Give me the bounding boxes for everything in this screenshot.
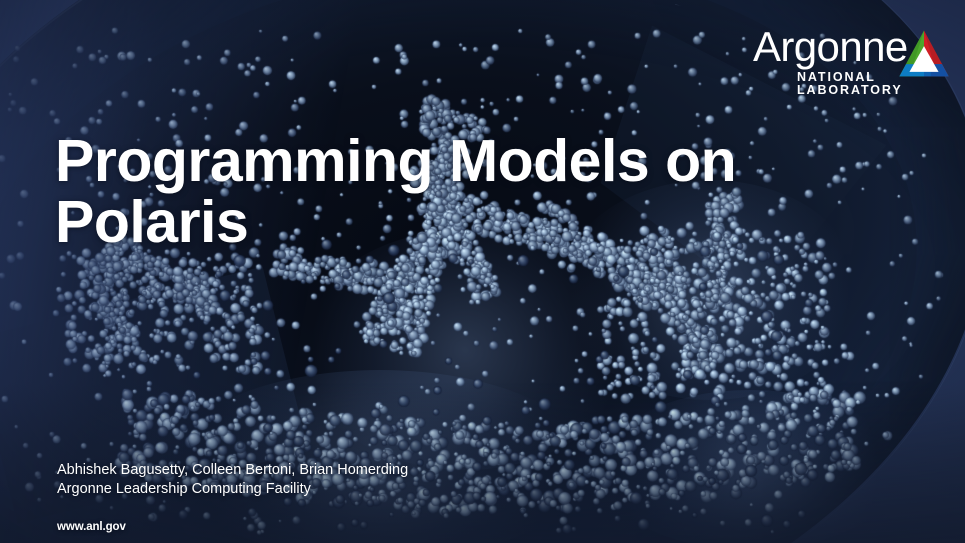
footer-website-url: www.anl.gov	[57, 521, 126, 533]
slide-byline: Abhishek Bagusetty, Colleen Bertoni, Bri…	[57, 461, 408, 500]
argonne-wordmark: Argonne	[753, 26, 908, 68]
argonne-logo: Argonne NATIONAL LABORATORY	[745, 26, 957, 98]
presentation-slide: Programming Models on Polaris Abhishek B…	[0, 0, 965, 543]
slide-title: Programming Models on Polaris	[55, 131, 795, 254]
byline-authors: Abhishek Bagusetty, Colleen Bertoni, Bri…	[57, 461, 408, 480]
byline-organization: Argonne Leadership Computing Facility	[57, 480, 408, 499]
slide-content: Programming Models on Polaris Abhishek B…	[0, 0, 965, 543]
argonne-triangle-icon	[896, 29, 952, 79]
